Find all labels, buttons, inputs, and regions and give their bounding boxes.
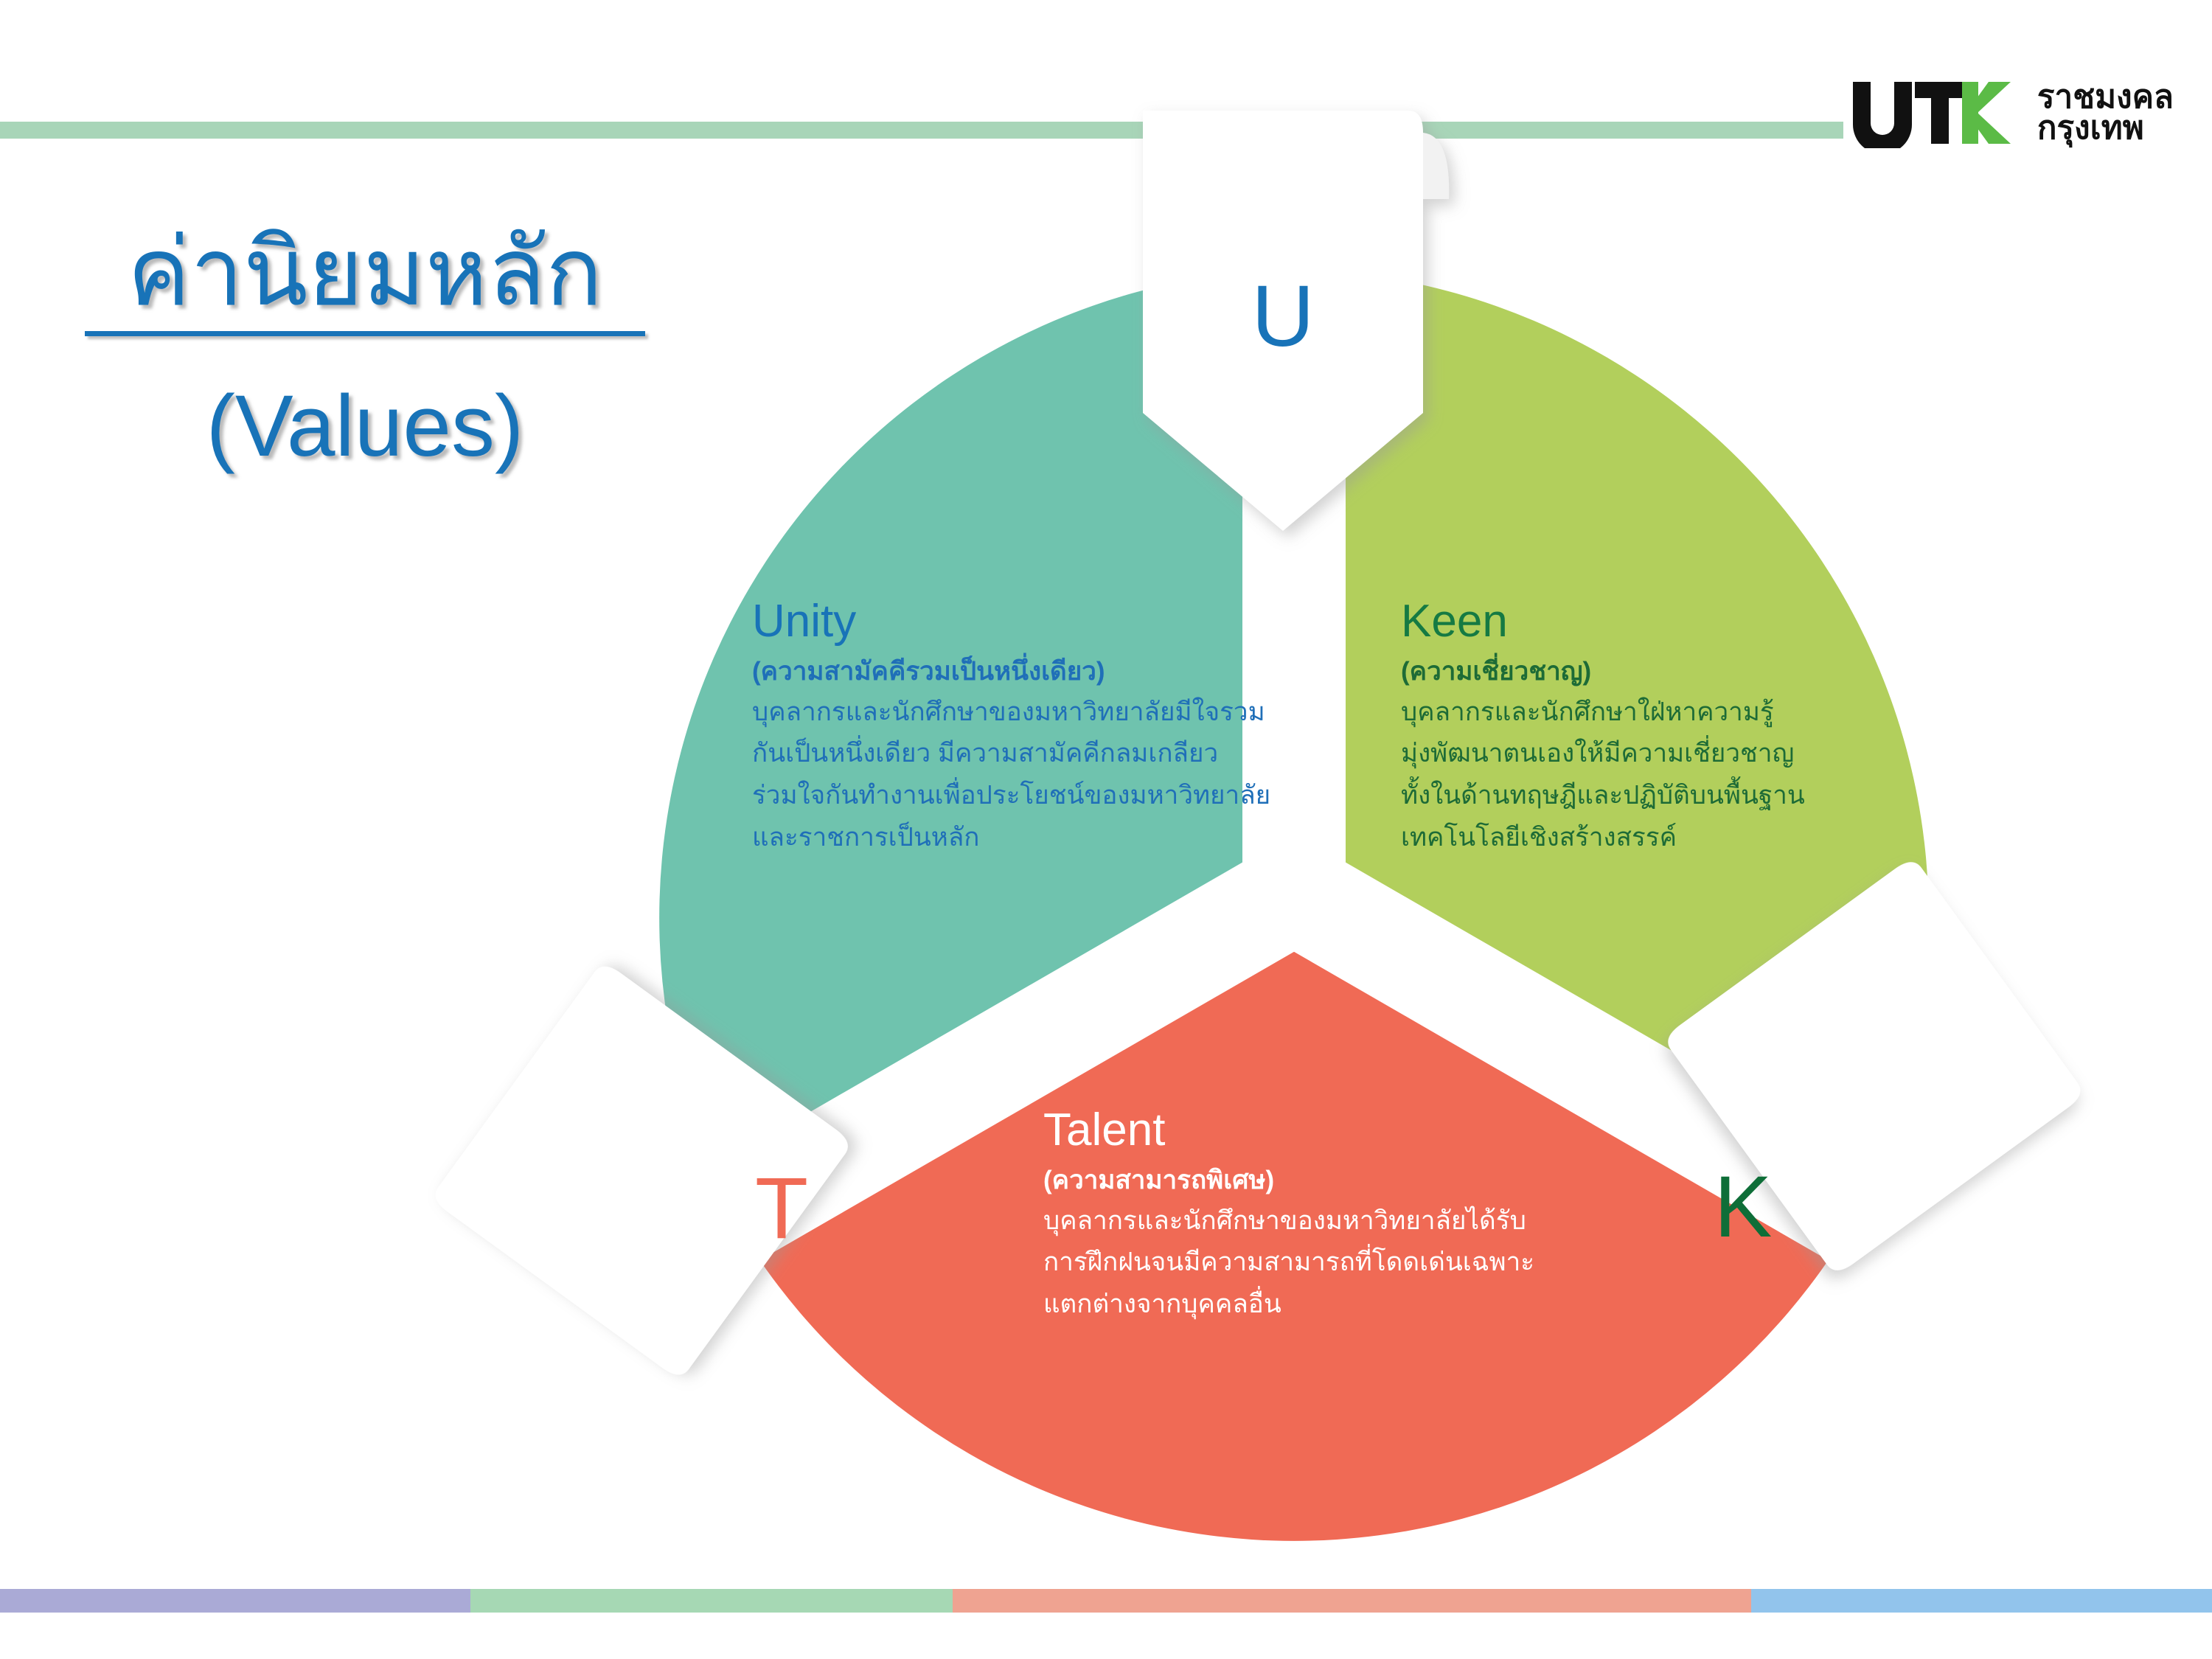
page-title-english: (Values) [59, 379, 671, 475]
slide-canvas: ราชมงคล กรุงเทพ ค่านิยมหลัก (Values) [0, 0, 2212, 1659]
footer-bar-green [470, 1589, 953, 1613]
segment-talent-body-line: แตกต่างจากบุคคลอื่น [1043, 1284, 1655, 1326]
utk-logo-text-line1: ราชมงคล [2037, 82, 2174, 113]
footer-bar-purple [0, 1589, 470, 1613]
segment-keen-body-line: ทั้งในด้านทฤษฎีและปฏิบัติบนพื้นฐาน [1401, 775, 1961, 817]
callout-letter-u: U [1139, 188, 1427, 505]
segment-keen-body-line: มุ่งพัฒนาตนเองให้มีความเชี่ยวชาญ [1401, 733, 1961, 775]
segment-keen-paren: (ความเชี่ยวชาญ) [1401, 653, 1961, 692]
segment-keen-text: Keen (ความเชี่ยวชาญ) บุคลากรและนักศึกษาใ… [1401, 597, 1961, 858]
footer-bar-salmon [953, 1589, 1751, 1613]
callout-letter-u-glyph: U [1139, 273, 1427, 360]
segment-keen-heading: Keen [1401, 597, 1961, 645]
segment-talent-paren: (ความสามารถพิเศษ) [1043, 1161, 1655, 1200]
segment-unity-body-line: กันเป็นหนึ่งเดียว มีความสามัคคีกลมเกลียว [752, 733, 1312, 775]
segment-talent-body-line: การฝึกฝนจนมีความสามารถที่โดดเด่นเฉพาะ [1043, 1242, 1655, 1284]
segment-unity-heading: Unity [752, 597, 1312, 645]
segment-talent-body-line: บุคลากรและนักศึกษาของมหาวิทยาลัยได้รับ [1043, 1200, 1655, 1242]
segment-talent-text: Talent (ความสามารถพิเศษ) บุคลากรและนักศึ… [1043, 1106, 1655, 1326]
page-title: ค่านิยมหลัก (Values) [59, 221, 671, 475]
header-rule [0, 122, 1843, 139]
segment-keen-body-line: บุคลากรและนักศึกษาใฝ่หาความรู้ [1401, 692, 1961, 734]
utk-logo-text: ราชมงคล กรุงเทพ [2037, 82, 2174, 144]
segment-unity-body-line: และราชการเป็นหลัก [752, 817, 1312, 859]
callout-letter-t: T [619, 1025, 929, 1342]
segment-unity-text: Unity (ความสามัคคีรวมเป็นหนึ่งเดียว) บุค… [752, 597, 1312, 858]
segment-talent-body: บุคลากรและนักศึกษาของมหาวิทยาลัยได้รับ ก… [1043, 1200, 1655, 1326]
utk-logo: ราชมงคล กรุงเทพ [1851, 77, 2174, 148]
footer-color-bars [0, 1589, 2212, 1613]
segment-unity-body: บุคลากรและนักศึกษาของมหาวิทยาลัยมีใจรวม … [752, 692, 1312, 859]
utk-logo-mark [1851, 77, 2021, 148]
segment-talent-heading: Talent [1043, 1106, 1655, 1154]
footer-bar-blue [1751, 1589, 2212, 1613]
segment-unity-paren: (ความสามัคคีรวมเป็นหนึ่งเดียว) [752, 653, 1312, 692]
callout-banner-u-curl [1423, 133, 1449, 199]
page-title-underline [85, 331, 645, 336]
segment-keen-body-line: เทคโนโลยีเชิงสร้างสรรค์ [1401, 817, 1961, 859]
utk-logo-text-line2: กรุงเทพ [2037, 113, 2174, 144]
callout-letter-t-glyph: T [627, 1165, 936, 1252]
segment-unity-body-line: บุคลากรและนักศึกษาของมหาวิทยาลัยมีใจรวม [752, 692, 1312, 734]
segment-keen-body: บุคลากรและนักศึกษาใฝ่หาความรู้ มุ่งพัฒนา… [1401, 692, 1961, 859]
page-title-thai: ค่านิยมหลัก [120, 221, 611, 325]
segment-unity-body-line: ร่วมใจกันทำงานเพื่อประโยชน์ของมหาวิทยาลั… [752, 775, 1312, 817]
